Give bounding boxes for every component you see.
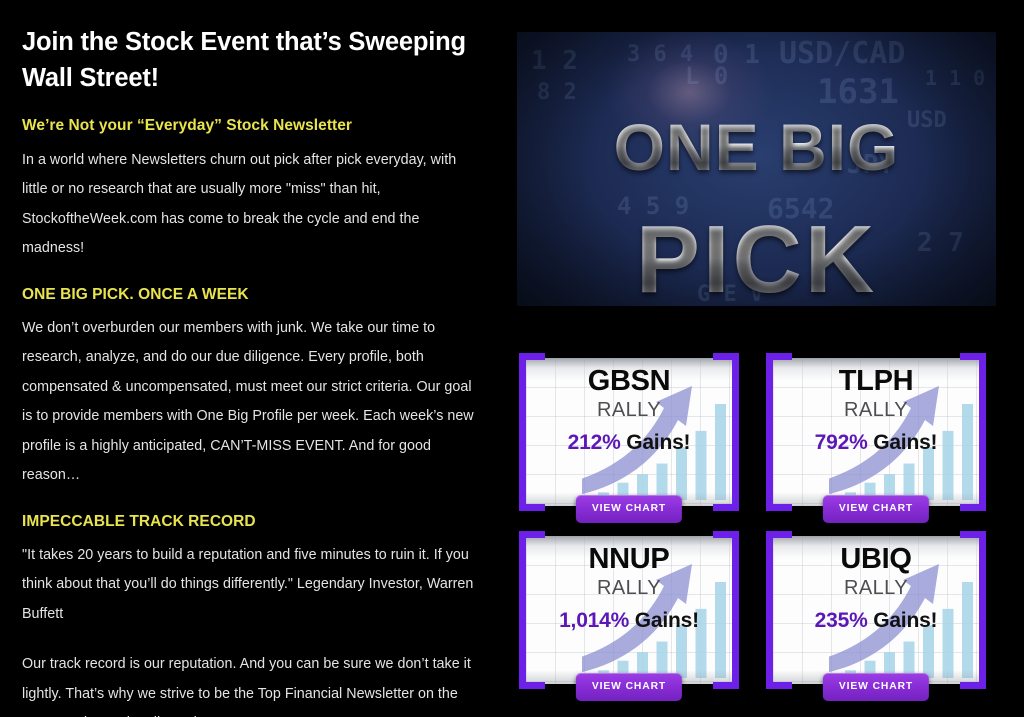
card-rally-label: RALLY [526,400,732,420]
hero-ghost-glyph: 3 6 4 [627,42,693,67]
frame-bar-left [519,353,526,511]
hero-title-line-1: ONE BIG [517,114,996,180]
hero-ghost-glyph: 1 2 [531,46,578,76]
card-chart-surface: TLPHRALLY792% Gains! [773,358,979,506]
frame-bar-left [766,531,773,689]
section-heading-newsletter: We’re Not your “Everyday” Stock Newslett… [22,116,480,136]
stock-rally-card[interactable]: NNUPRALLY1,014% Gains!VIEW CHART [519,531,739,689]
card-gains-line: 792% Gains! [773,432,979,453]
card-gains-word: Gains! [868,431,938,454]
card-gains-line: 235% Gains! [773,610,979,631]
section-paragraph-newsletter: In a world where Newsletters churn out p… [22,146,480,264]
card-gains-word: Gains! [621,431,691,454]
card-ticker-symbol: GBSN [526,367,732,396]
hero-video-player[interactable]: USD/CAD16316542JPY0 1L 03 6 41 28 24 5 9… [517,32,996,306]
card-gains-line: 212% Gains! [526,432,732,453]
section-heading-one-big-pick: ONE BIG PICK. ONCE A WEEK [22,285,480,305]
view-chart-button[interactable]: VIEW CHART [576,673,682,701]
card-rally-label: RALLY [526,578,732,598]
card-ticker-symbol: TLPH [773,367,979,396]
hero-title-line-2: PICK [517,212,996,306]
section-paragraph-buffett-quote: "It takes 20 years to build a reputation… [22,541,480,630]
card-gain-percent: 1,014% [559,609,629,632]
card-gain-percent: 212% [568,431,621,454]
stock-rally-card[interactable]: UBIQRALLY235% Gains!VIEW CHART [766,531,986,689]
card-text-layer: UBIQRALLY235% Gains! [773,536,979,684]
card-ticker-symbol: NNUP [526,545,732,574]
marketing-copy-column: Join the Stock Event that’s Sweeping Wal… [22,24,480,717]
card-gain-percent: 235% [815,609,868,632]
frame-bar-left [766,353,773,511]
card-chart-surface: NNUPRALLY1,014% Gains! [526,536,732,684]
page-root: Join the Stock Event that’s Sweeping Wal… [0,0,1024,717]
section-heading-track-record: IMPECCABLE TRACK RECORD [22,512,480,532]
hero-ghost-glyph: USD/CAD [779,36,905,71]
hero-ghost-glyph: 1 1 0 [925,66,985,90]
card-ticker-symbol: UBIQ [773,545,979,574]
frame-bar-right [979,531,986,689]
card-text-layer: GBSNRALLY212% Gains! [526,358,732,506]
card-gains-word: Gains! [868,609,938,632]
card-chart-surface: GBSNRALLY212% Gains! [526,358,732,506]
hero-ghost-glyph: 1631 [817,72,899,112]
section-paragraph-subscribe: Our track record is our reputation. And … [22,650,480,717]
card-gain-percent: 792% [815,431,868,454]
view-chart-button[interactable]: VIEW CHART [823,495,929,523]
frame-bar-right [732,353,739,511]
view-chart-button[interactable]: VIEW CHART [576,495,682,523]
hero-ghost-glyph: 8 2 [537,80,577,105]
section-paragraph-one-big-pick: We don’t overburden our members with jun… [22,314,480,491]
card-chart-surface: UBIQRALLY235% Gains! [773,536,979,684]
stock-rally-card[interactable]: GBSNRALLY212% Gains!VIEW CHART [519,353,739,511]
frame-bar-left [519,531,526,689]
page-title: Join the Stock Event that’s Sweeping Wal… [22,24,480,96]
stock-rally-card-grid: GBSNRALLY212% Gains!VIEW CHARTTLPHRALLY7… [519,353,997,689]
frame-bar-right [732,531,739,689]
view-chart-button[interactable]: VIEW CHART [823,673,929,701]
frame-bar-right [979,353,986,511]
card-rally-label: RALLY [773,578,979,598]
card-rally-label: RALLY [773,400,979,420]
card-text-layer: TLPHRALLY792% Gains! [773,358,979,506]
card-text-layer: NNUPRALLY1,014% Gains! [526,536,732,684]
card-gains-word: Gains! [629,609,699,632]
stock-rally-card[interactable]: TLPHRALLY792% Gains!VIEW CHART [766,353,986,511]
card-gains-line: 1,014% Gains! [526,610,732,631]
